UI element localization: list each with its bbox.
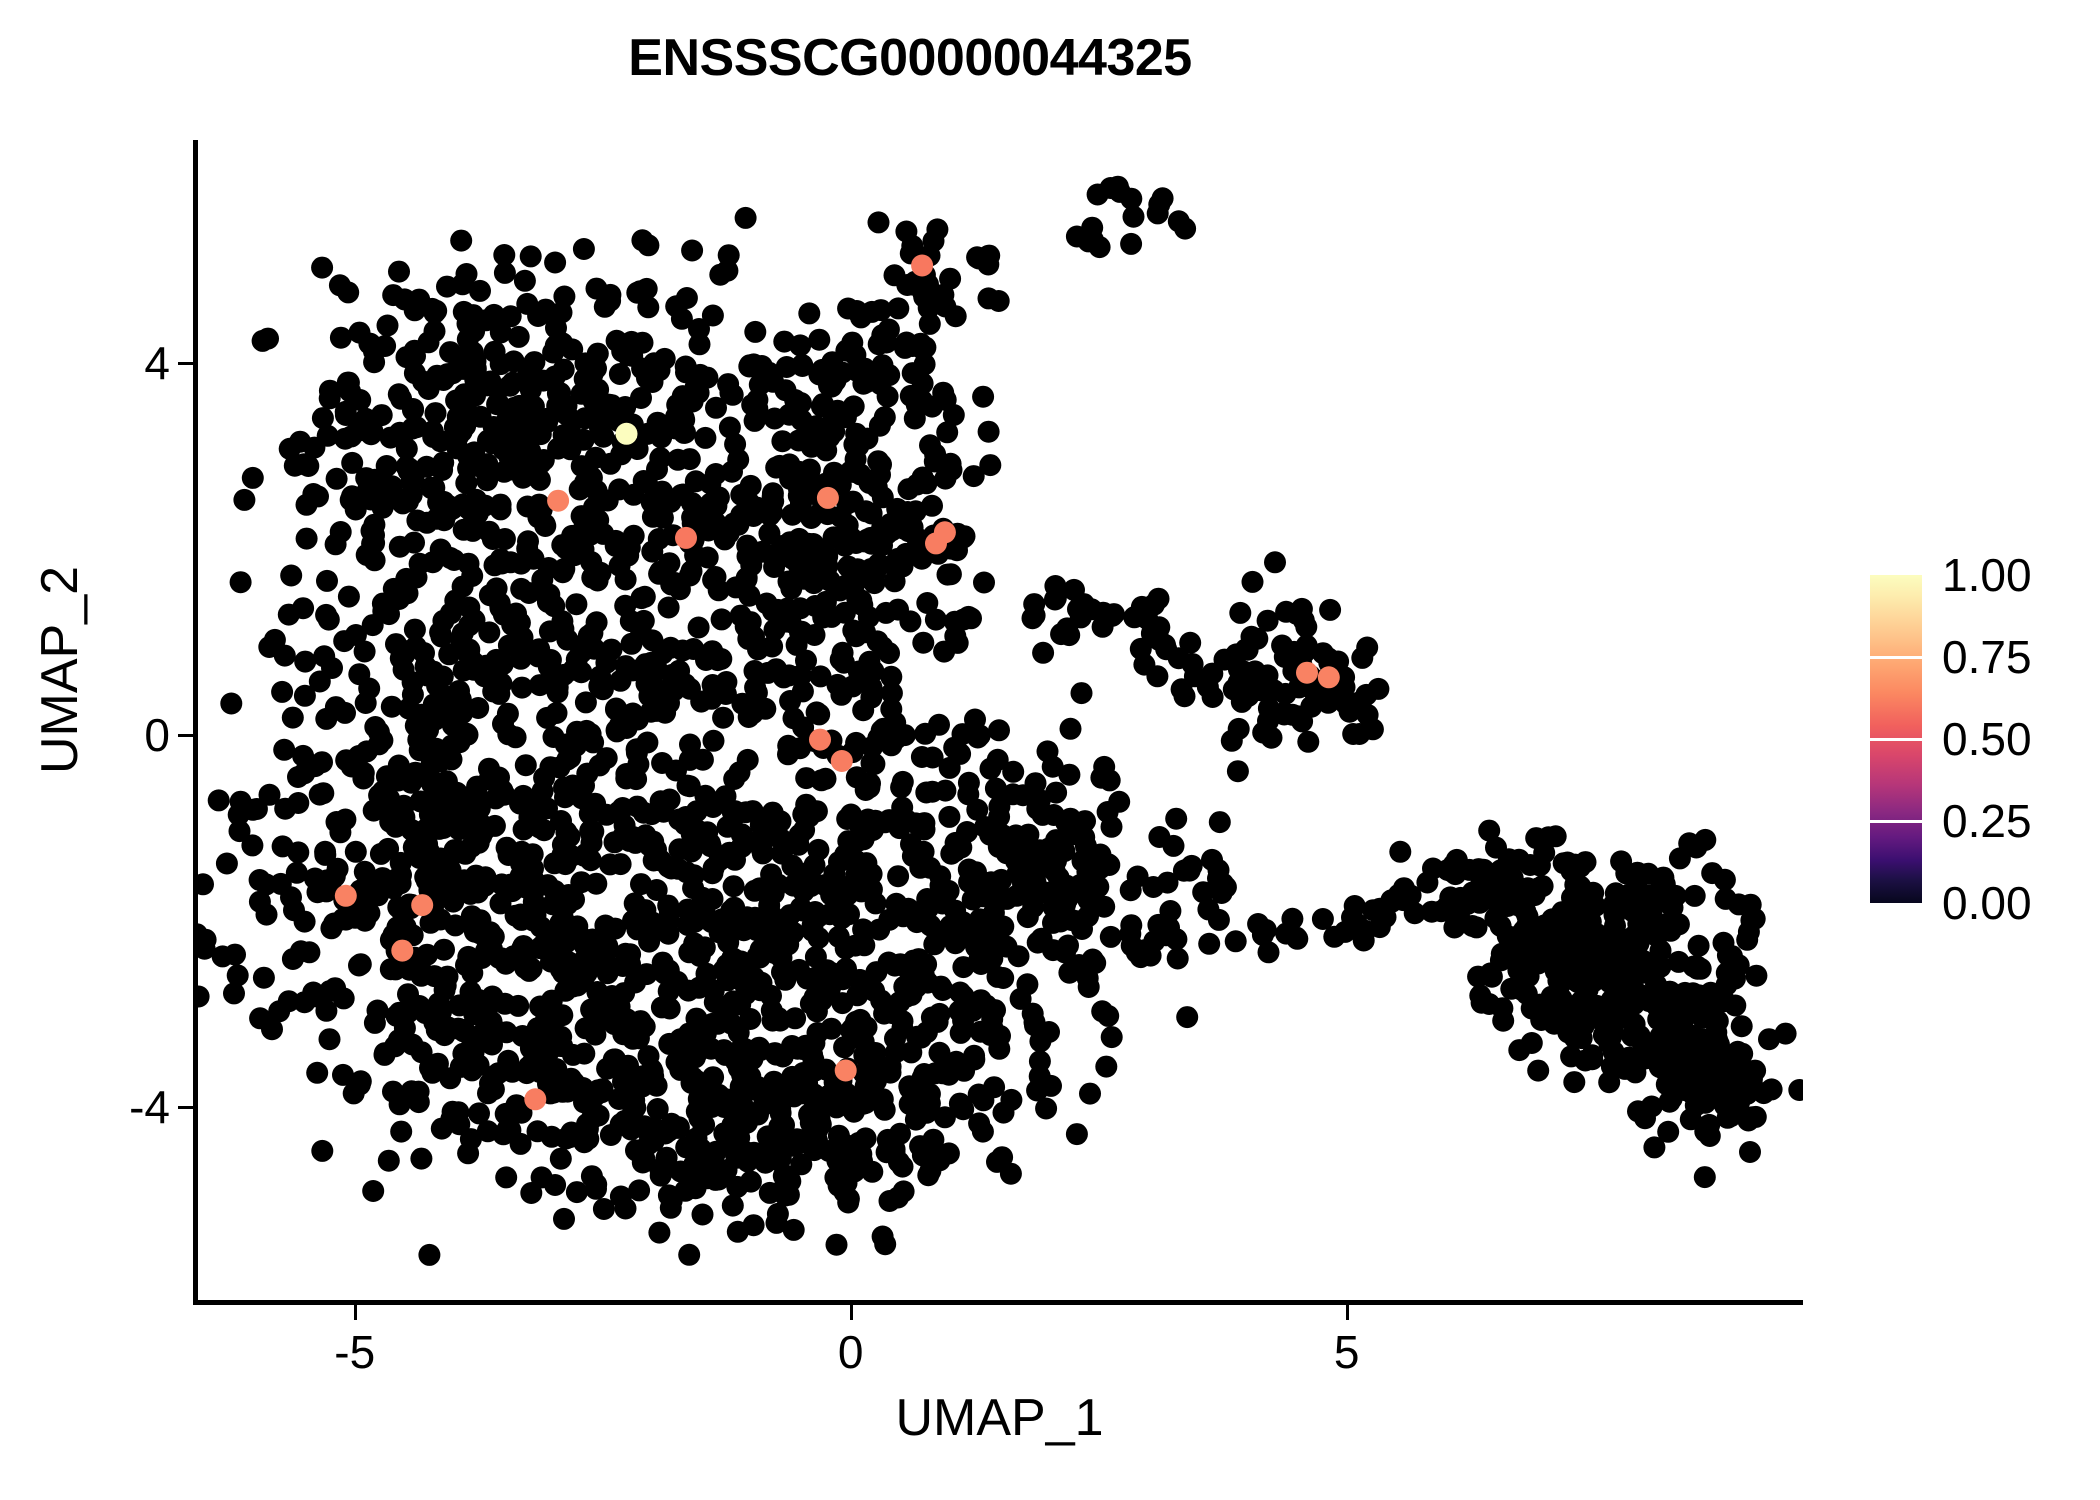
- data-point: [651, 996, 673, 1018]
- data-point: [1100, 926, 1122, 948]
- data-point: [1084, 952, 1106, 974]
- data-point: [622, 826, 644, 848]
- data-point: [388, 261, 410, 283]
- data-point: [1490, 890, 1512, 912]
- data-point: [929, 1042, 951, 1064]
- data-point: [807, 987, 829, 1009]
- data-point: [874, 406, 896, 428]
- data-point: [456, 723, 478, 745]
- data-point: [773, 666, 795, 688]
- data-point: [615, 1198, 637, 1220]
- data-point: [1543, 923, 1565, 945]
- data-point: [1614, 1058, 1636, 1080]
- umap-feature-plot: ENSSSCG00000044325 -505 40-4 UMAP_1 UMAP…: [0, 0, 2100, 1500]
- highlight-data-point: [616, 423, 638, 445]
- data-point: [457, 328, 479, 350]
- data-point: [1498, 848, 1520, 870]
- data-point: [315, 1000, 337, 1022]
- data-point: [856, 428, 878, 450]
- data-point: [390, 388, 412, 410]
- data-point: [1037, 740, 1059, 762]
- data-point: [544, 252, 566, 274]
- data-point: [597, 962, 619, 984]
- data-point: [1159, 900, 1181, 922]
- data-point: [1179, 632, 1201, 654]
- data-point: [722, 1195, 744, 1217]
- data-point: [1071, 682, 1093, 704]
- data-point: [287, 766, 309, 788]
- data-point: [919, 434, 941, 456]
- data-point: [323, 913, 345, 935]
- data-point: [972, 1086, 994, 1108]
- data-point: [505, 905, 527, 927]
- data-point: [631, 587, 653, 609]
- data-point: [924, 1062, 946, 1084]
- data-point: [636, 278, 658, 300]
- data-point: [520, 245, 542, 267]
- data-point: [468, 1102, 490, 1124]
- data-point: [278, 604, 300, 626]
- data-point: [622, 1028, 644, 1050]
- data-point: [363, 800, 385, 822]
- data-point: [664, 572, 686, 594]
- data-point: [1257, 664, 1279, 686]
- data-point: [368, 721, 390, 743]
- data-point: [630, 873, 652, 895]
- data-point: [748, 637, 770, 659]
- highlight-data-point: [524, 1088, 546, 1110]
- data-point: [1367, 678, 1389, 700]
- data-point: [938, 806, 960, 828]
- data-point: [1029, 1065, 1051, 1087]
- data-point: [633, 1115, 655, 1137]
- data-point: [358, 678, 380, 700]
- data-point: [512, 467, 534, 489]
- data-point: [756, 593, 778, 615]
- x-tick-mark: [1346, 1305, 1349, 1320]
- data-point: [716, 954, 738, 976]
- data-point: [282, 707, 304, 729]
- data-point: [707, 1013, 729, 1035]
- data-point: [1297, 731, 1319, 753]
- data-point: [972, 940, 994, 962]
- data-point: [820, 1018, 842, 1040]
- data-point: [233, 489, 255, 511]
- data-point: [1513, 920, 1535, 942]
- color-legend: 1.000.750.500.250.00: [1870, 575, 2100, 905]
- data-point: [1024, 875, 1046, 897]
- data-point: [326, 468, 348, 490]
- data-point: [912, 632, 934, 654]
- data-point: [372, 497, 394, 519]
- data-point: [782, 875, 804, 897]
- data-point: [511, 442, 533, 464]
- data-point: [294, 651, 316, 673]
- data-point: [881, 682, 903, 704]
- data-point: [1685, 837, 1707, 859]
- data-point: [851, 594, 873, 616]
- data-point: [1533, 842, 1555, 864]
- data-point: [1444, 863, 1466, 885]
- data-point: [964, 709, 986, 731]
- data-point: [1168, 210, 1190, 232]
- data-point: [1645, 974, 1667, 996]
- data-point: [483, 416, 505, 438]
- data-point: [1050, 623, 1072, 645]
- data-point: [837, 298, 859, 320]
- scatter-plot-area: [196, 140, 1803, 1302]
- data-point: [609, 363, 631, 385]
- data-point: [1661, 892, 1683, 914]
- data-point: [799, 860, 821, 882]
- data-point: [458, 597, 480, 619]
- data-point: [988, 719, 1010, 741]
- data-point: [1739, 1141, 1761, 1163]
- data-point: [891, 1017, 913, 1039]
- highlight-data-point: [675, 527, 697, 549]
- data-point: [1655, 1029, 1677, 1051]
- data-point: [491, 873, 513, 895]
- data-point: [545, 335, 567, 357]
- data-point: [996, 888, 1018, 910]
- data-point: [196, 873, 214, 895]
- data-point: [249, 891, 271, 913]
- data-point: [540, 951, 562, 973]
- data-point: [730, 605, 752, 627]
- data-point: [750, 939, 772, 961]
- colorbar-tick-mark: [1870, 656, 1922, 659]
- data-point: [724, 849, 746, 871]
- data-point: [902, 845, 924, 867]
- data-point: [767, 1007, 789, 1029]
- data-point: [979, 454, 1001, 476]
- data-point: [314, 841, 336, 863]
- data-point: [421, 769, 443, 791]
- data-point: [393, 640, 415, 662]
- data-point: [380, 958, 402, 980]
- data-point: [306, 1062, 328, 1084]
- data-point: [922, 1129, 944, 1151]
- data-point: [925, 609, 947, 631]
- data-point: [621, 633, 643, 655]
- data-point: [774, 1164, 796, 1186]
- data-point: [479, 584, 501, 606]
- data-point: [329, 274, 351, 296]
- data-point: [514, 270, 536, 292]
- data-point: [723, 875, 745, 897]
- data-point: [594, 915, 616, 937]
- data-point: [1148, 588, 1170, 610]
- data-point: [541, 672, 563, 694]
- data-point: [624, 892, 646, 914]
- data-point: [401, 1080, 423, 1102]
- data-point: [755, 826, 777, 848]
- data-point: [390, 852, 412, 874]
- highlight-data-point: [1296, 662, 1318, 684]
- highlight-data-point: [809, 729, 831, 751]
- data-point: [648, 528, 670, 550]
- data-point: [911, 746, 933, 768]
- data-point: [587, 379, 609, 401]
- data-point: [718, 522, 740, 544]
- data-point: [316, 570, 338, 592]
- data-point: [730, 484, 752, 506]
- data-point: [795, 650, 817, 672]
- data-point: [1060, 718, 1082, 740]
- data-point: [1351, 647, 1373, 669]
- data-point: [555, 821, 577, 843]
- data-point: [1563, 1071, 1585, 1093]
- data-point: [884, 570, 906, 592]
- data-point: [294, 991, 316, 1013]
- colorbar-tick-mark: [1870, 820, 1922, 823]
- data-point: [389, 422, 411, 444]
- data-point: [495, 1166, 517, 1188]
- data-point: [494, 528, 516, 550]
- data-point: [689, 1027, 711, 1049]
- data-point: [625, 1139, 647, 1161]
- data-point: [826, 1234, 848, 1256]
- data-point: [637, 234, 659, 256]
- highlight-data-point: [911, 255, 933, 277]
- data-point: [679, 448, 701, 470]
- data-point: [688, 617, 710, 639]
- data-point: [1688, 935, 1710, 957]
- data-point: [520, 1182, 542, 1204]
- data-point: [326, 811, 348, 833]
- data-point: [429, 750, 451, 772]
- data-point: [642, 371, 664, 393]
- data-point: [594, 296, 616, 318]
- data-point: [428, 992, 450, 1014]
- data-point: [740, 1171, 762, 1193]
- data-point: [470, 825, 492, 847]
- data-point: [880, 734, 902, 756]
- data-point: [932, 284, 954, 306]
- data-point: [830, 649, 852, 671]
- highlight-data-point: [817, 487, 839, 509]
- data-point: [321, 657, 343, 679]
- data-point: [777, 743, 799, 765]
- data-point: [325, 533, 347, 555]
- data-point: [280, 565, 302, 587]
- data-point: [312, 782, 334, 804]
- data-point: [711, 608, 733, 630]
- data-point: [416, 456, 438, 478]
- data-point: [479, 768, 501, 790]
- data-point: [968, 248, 990, 270]
- y-tick-mark: [178, 1106, 193, 1109]
- data-point: [483, 1078, 505, 1100]
- data-point: [1528, 877, 1550, 899]
- data-point: [852, 699, 874, 721]
- data-point: [1275, 923, 1297, 945]
- data-point: [749, 877, 771, 899]
- data-point: [972, 885, 994, 907]
- colorbar-tick-mark: [1870, 738, 1922, 741]
- data-point: [382, 284, 404, 306]
- data-point: [311, 257, 333, 279]
- data-point: [1389, 841, 1411, 863]
- data-point: [654, 348, 676, 370]
- data-point: [220, 693, 242, 715]
- data-point: [1079, 1083, 1101, 1105]
- data-point: [448, 994, 470, 1016]
- data-point: [319, 380, 341, 402]
- data-point: [1107, 176, 1129, 198]
- data-point: [536, 707, 558, 729]
- data-point: [645, 839, 667, 861]
- highlight-data-point: [934, 521, 956, 543]
- data-point: [356, 544, 378, 566]
- data-point: [476, 453, 498, 475]
- data-point: [1647, 1008, 1669, 1030]
- data-point: [582, 821, 604, 843]
- data-point: [603, 1049, 625, 1071]
- data-point: [302, 483, 324, 505]
- data-point: [1228, 672, 1250, 694]
- data-point: [927, 1148, 949, 1170]
- data-point: [1152, 187, 1174, 209]
- data-point: [1724, 995, 1746, 1017]
- data-point: [242, 799, 264, 821]
- data-point: [808, 329, 830, 351]
- data-point: [294, 685, 316, 707]
- data-point: [196, 986, 210, 1008]
- data-point: [345, 841, 367, 863]
- data-point: [595, 652, 617, 674]
- x-axis-label: UMAP_1: [196, 1388, 1803, 1448]
- data-point: [1728, 954, 1750, 976]
- data-point: [1300, 696, 1322, 718]
- data-point: [861, 819, 883, 841]
- data-point: [486, 1020, 508, 1042]
- data-point: [553, 286, 575, 308]
- data-point: [628, 1179, 650, 1201]
- data-point: [424, 302, 446, 324]
- data-point: [1317, 647, 1339, 669]
- data-point: [813, 1093, 835, 1115]
- data-point: [987, 966, 1009, 988]
- data-point: [868, 211, 890, 233]
- data-point: [842, 1017, 864, 1039]
- data-point: [406, 510, 428, 532]
- y-tick-mark: [178, 362, 193, 365]
- data-point: [571, 505, 593, 527]
- data-point: [1736, 929, 1758, 951]
- data-point: [745, 919, 767, 941]
- data-point: [434, 968, 456, 990]
- data-point: [453, 798, 475, 820]
- data-point: [806, 701, 828, 723]
- data-point: [397, 983, 419, 1005]
- data-point: [422, 661, 444, 683]
- data-point: [453, 869, 475, 891]
- data-point: [1508, 1039, 1530, 1061]
- data-point: [1690, 958, 1712, 980]
- data-point: [1701, 862, 1723, 884]
- data-point: [1059, 808, 1081, 830]
- data-point: [781, 504, 803, 526]
- data-point: [556, 893, 578, 915]
- data-point: [674, 673, 696, 695]
- data-point: [1044, 575, 1066, 597]
- y-tick-mark: [178, 734, 193, 737]
- data-point: [626, 742, 648, 764]
- data-point: [828, 926, 850, 948]
- data-point: [610, 853, 632, 875]
- data-point: [531, 569, 553, 591]
- data-point: [471, 660, 493, 682]
- data-point: [910, 1027, 932, 1049]
- data-point: [929, 1003, 951, 1025]
- data-point: [1694, 1166, 1716, 1188]
- data-point: [865, 961, 887, 983]
- data-point: [1095, 1056, 1117, 1078]
- colorbar-tick-label: 0.25: [1942, 794, 2032, 848]
- data-point: [478, 991, 500, 1013]
- data-point: [677, 775, 699, 797]
- data-point: [791, 621, 813, 643]
- data-point: [253, 967, 275, 989]
- data-point: [915, 953, 937, 975]
- data-point: [973, 572, 995, 594]
- data-point: [1202, 686, 1224, 708]
- data-point: [1133, 654, 1155, 676]
- data-point: [573, 238, 595, 260]
- data-point: [1527, 1060, 1549, 1082]
- data-point: [1469, 985, 1491, 1007]
- data-point: [1580, 911, 1602, 933]
- data-point: [855, 1127, 877, 1149]
- data-point: [842, 675, 864, 697]
- data-point: [1208, 909, 1230, 931]
- data-point: [991, 1146, 1013, 1168]
- data-point: [855, 500, 877, 522]
- data-point: [763, 1071, 785, 1093]
- data-point: [1286, 603, 1308, 625]
- data-point: [444, 839, 466, 861]
- data-point: [358, 333, 380, 355]
- data-point: [1099, 769, 1121, 791]
- data-point: [588, 1105, 610, 1127]
- data-point: [615, 569, 637, 591]
- data-point: [1668, 913, 1690, 935]
- data-point: [1148, 826, 1170, 848]
- data-point: [543, 595, 565, 617]
- data-point: [934, 468, 956, 490]
- data-point: [824, 878, 846, 900]
- data-point: [699, 833, 721, 855]
- data-point: [478, 621, 500, 643]
- data-point: [1788, 1079, 1803, 1101]
- data-point: [665, 295, 687, 317]
- data-point: [695, 649, 717, 671]
- data-point: [692, 1204, 714, 1226]
- data-point: [349, 1074, 371, 1096]
- data-point: [402, 671, 424, 693]
- data-point: [899, 610, 921, 632]
- data-point: [868, 553, 890, 575]
- data-point: [913, 286, 935, 308]
- data-point: [681, 240, 703, 262]
- data-point: [1120, 233, 1142, 255]
- data-point: [575, 691, 597, 713]
- data-point: [812, 607, 834, 629]
- data-point: [877, 386, 899, 408]
- data-point: [216, 853, 238, 875]
- data-point: [315, 604, 337, 626]
